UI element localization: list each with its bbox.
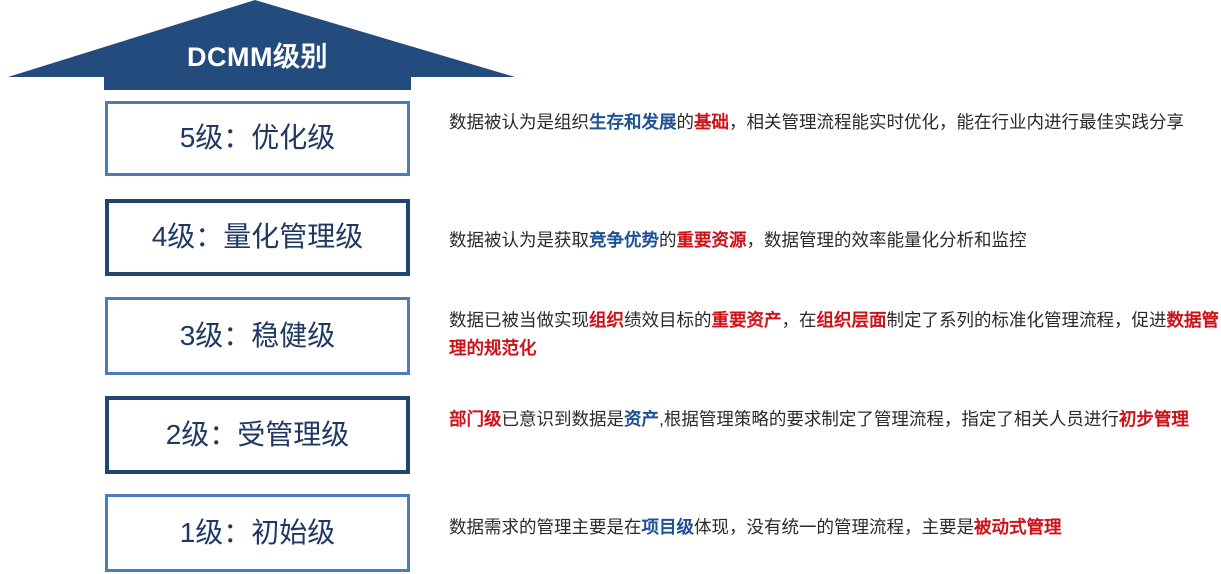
level-box-1[interactable]: 1级：初始级 [105,494,410,572]
level-box-4[interactable]: 4级：量化管理级 [105,199,410,276]
level-description-1: 数据需求的管理主要是在项目级体现，没有统一的管理流程，主要是被动式管理 [449,513,1219,541]
banner-title: DCMM级别 [105,44,410,71]
level-label-1: 1级：初始级 [180,518,336,549]
level-label-5: 5级：优化级 [180,123,336,154]
level-box-5[interactable]: 5级：优化级 [105,101,410,176]
level-description-3: 数据已被当做实现组织绩效目标的重要资产，在组织层面制定了系列的标准化管理流程，促… [449,306,1219,363]
level-label-4: 4级：量化管理级 [152,222,364,253]
level-description-2: 部门级已意识到数据是资产,根据管理策略的要求制定了管理流程，指定了相关人员进行初… [449,405,1219,433]
level-box-2[interactable]: 2级：受管理级 [105,396,410,474]
level-label-2: 2级：受管理级 [166,420,350,451]
level-box-3[interactable]: 3级：稳健级 [105,297,410,375]
level-label-3: 3级：稳健级 [180,321,336,352]
level-description-5: 数据被认为是组织生存和发展的基础，相关管理流程能实时优化，能在行业内进行最佳实践… [449,108,1219,136]
level-description-4: 数据被认为是获取竞争优势的重要资源，数据管理的效率能量化分析和监控 [449,226,1219,254]
